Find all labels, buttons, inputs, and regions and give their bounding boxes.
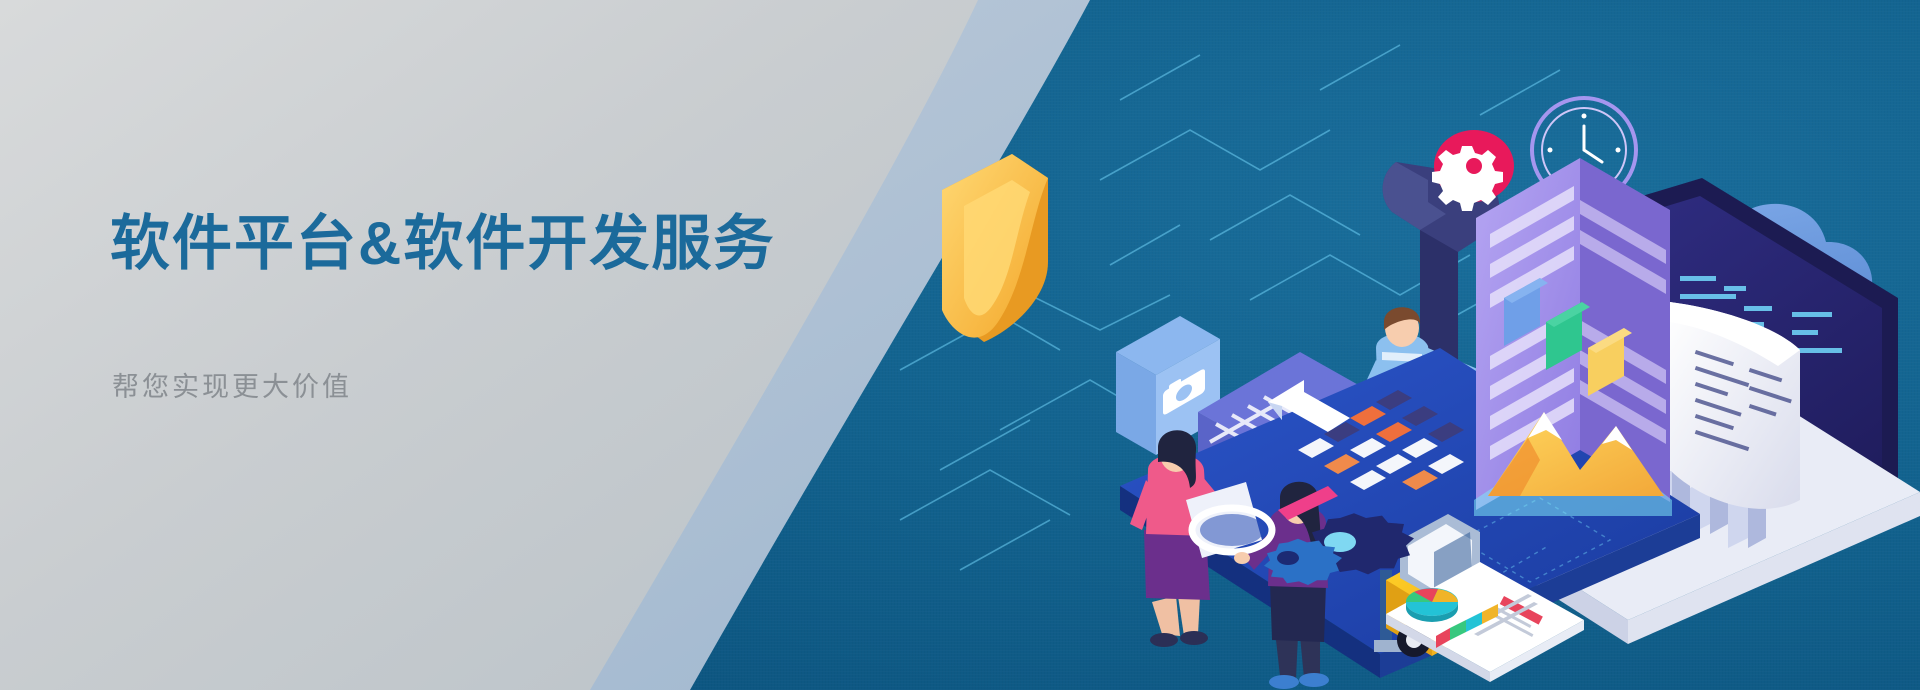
shield-icon (942, 154, 1048, 342)
gear-badge-icon (1432, 130, 1514, 211)
page-title: 软件平台&软件开发服务 (110, 214, 775, 274)
hero-illustration (880, 30, 1920, 690)
page-subtitle: 帮您实现更大价值 (112, 374, 352, 401)
banner-root: 软件平台&软件开发服务 帮您实现更大价值 (0, 0, 1920, 690)
